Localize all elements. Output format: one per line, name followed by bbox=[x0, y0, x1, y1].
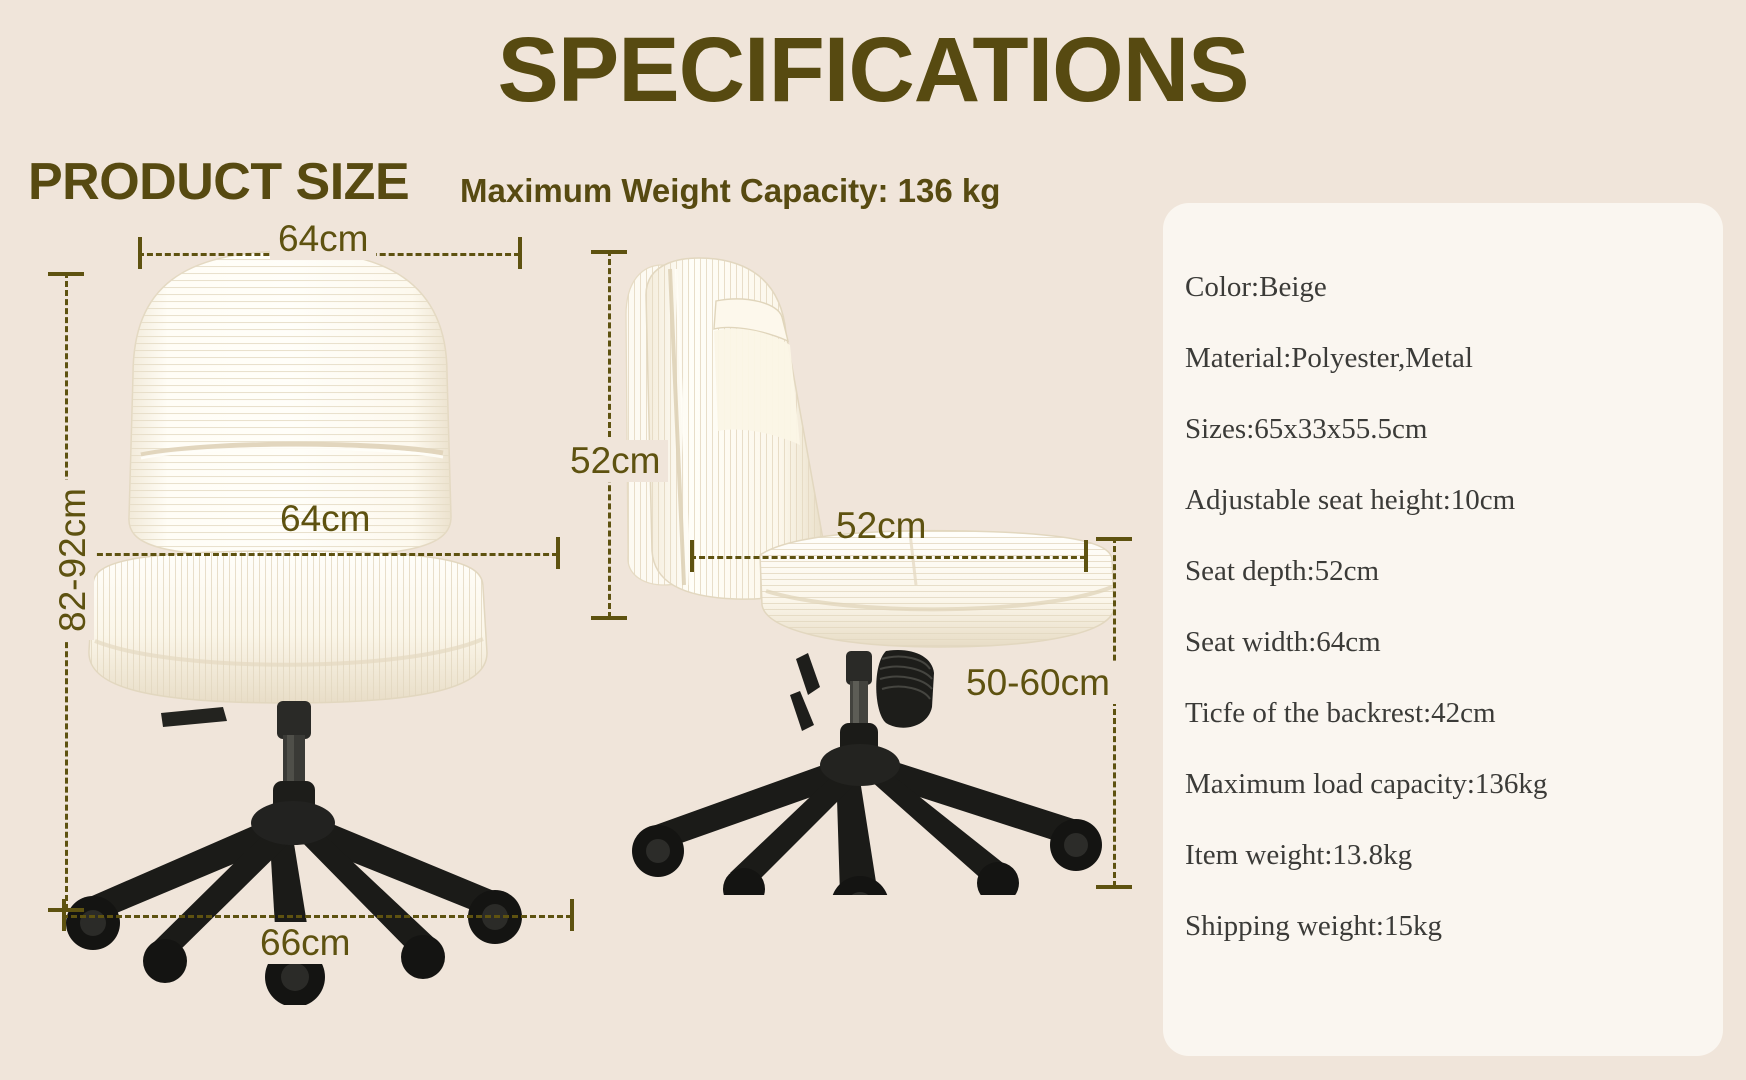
spec-item-adjustable-seat-height: Adjustable seat height:10cm bbox=[1185, 486, 1723, 515]
spec-item-sizes: Sizes:65x33x55.5cm bbox=[1185, 415, 1723, 444]
dim-cap-right-seat-width bbox=[556, 537, 560, 569]
page-title: SPECIFICATIONS bbox=[0, 18, 1746, 123]
dim-cap-bottom-backrest-height bbox=[591, 616, 627, 620]
spec-item-color: Color:Beige bbox=[1185, 273, 1723, 302]
specification-panel: Color:Beige Material:Polyester,Metal Siz… bbox=[1163, 203, 1723, 1056]
spec-item-shipping-weight: Shipping weight:15kg bbox=[1185, 912, 1723, 941]
front-chair-illustration bbox=[55, 245, 615, 1005]
dim-label-backrest-width: 64cm bbox=[270, 218, 376, 260]
dim-label-total-height: 82-92cm bbox=[52, 480, 94, 640]
dim-label-backrest-height: 52cm bbox=[562, 440, 668, 482]
dim-line-seat-width bbox=[88, 553, 558, 556]
max-weight-capacity-label: Maximum Weight Capacity: 136 kg bbox=[460, 172, 1000, 210]
dim-cap-left-backrest-width bbox=[138, 237, 142, 269]
product-size-heading: PRODUCT SIZE bbox=[28, 152, 409, 212]
dim-cap-top-total-height bbox=[48, 272, 84, 276]
spec-item-seat-width: Seat width:64cm bbox=[1185, 628, 1723, 657]
dim-label-seat-height: 50-60cm bbox=[958, 662, 1118, 704]
dim-label-base-width: 66cm bbox=[252, 922, 358, 964]
dim-cap-right-backrest-width bbox=[518, 237, 522, 269]
spec-item-max-load-capacity: Maximum load capacity:136kg bbox=[1185, 770, 1723, 799]
spec-item-seat-depth: Seat depth:52cm bbox=[1185, 557, 1723, 586]
dim-line-base-width bbox=[62, 915, 572, 918]
dim-cap-right-seat-depth bbox=[1084, 540, 1088, 572]
dim-line-backrest-height bbox=[608, 250, 611, 618]
specification-sheet: SPECIFICATIONS PRODUCT SIZE Maximum Weig… bbox=[0, 0, 1746, 1080]
dim-cap-bottom-seat-height bbox=[1096, 885, 1132, 889]
side-chair-illustration bbox=[610, 255, 1130, 895]
dim-cap-left-base-width bbox=[62, 899, 66, 931]
dim-cap-bottom-total-height bbox=[48, 908, 84, 912]
dim-label-seat-depth: 52cm bbox=[828, 505, 934, 547]
dim-line-seat-height bbox=[1113, 537, 1116, 887]
dim-cap-right-base-width bbox=[570, 899, 574, 931]
dim-label-seat-width: 64cm bbox=[272, 498, 378, 540]
spec-item-item-weight: Item weight:13.8kg bbox=[1185, 841, 1723, 870]
dim-cap-top-backrest-height bbox=[591, 250, 627, 254]
dim-line-seat-depth bbox=[690, 556, 1086, 559]
dim-cap-left-seat-depth bbox=[690, 540, 694, 572]
spec-item-backrest-thickness: Ticfe of the backrest:42cm bbox=[1185, 699, 1723, 728]
dim-cap-top-seat-height bbox=[1096, 537, 1132, 541]
spec-item-material: Material:Polyester,Metal bbox=[1185, 344, 1723, 373]
